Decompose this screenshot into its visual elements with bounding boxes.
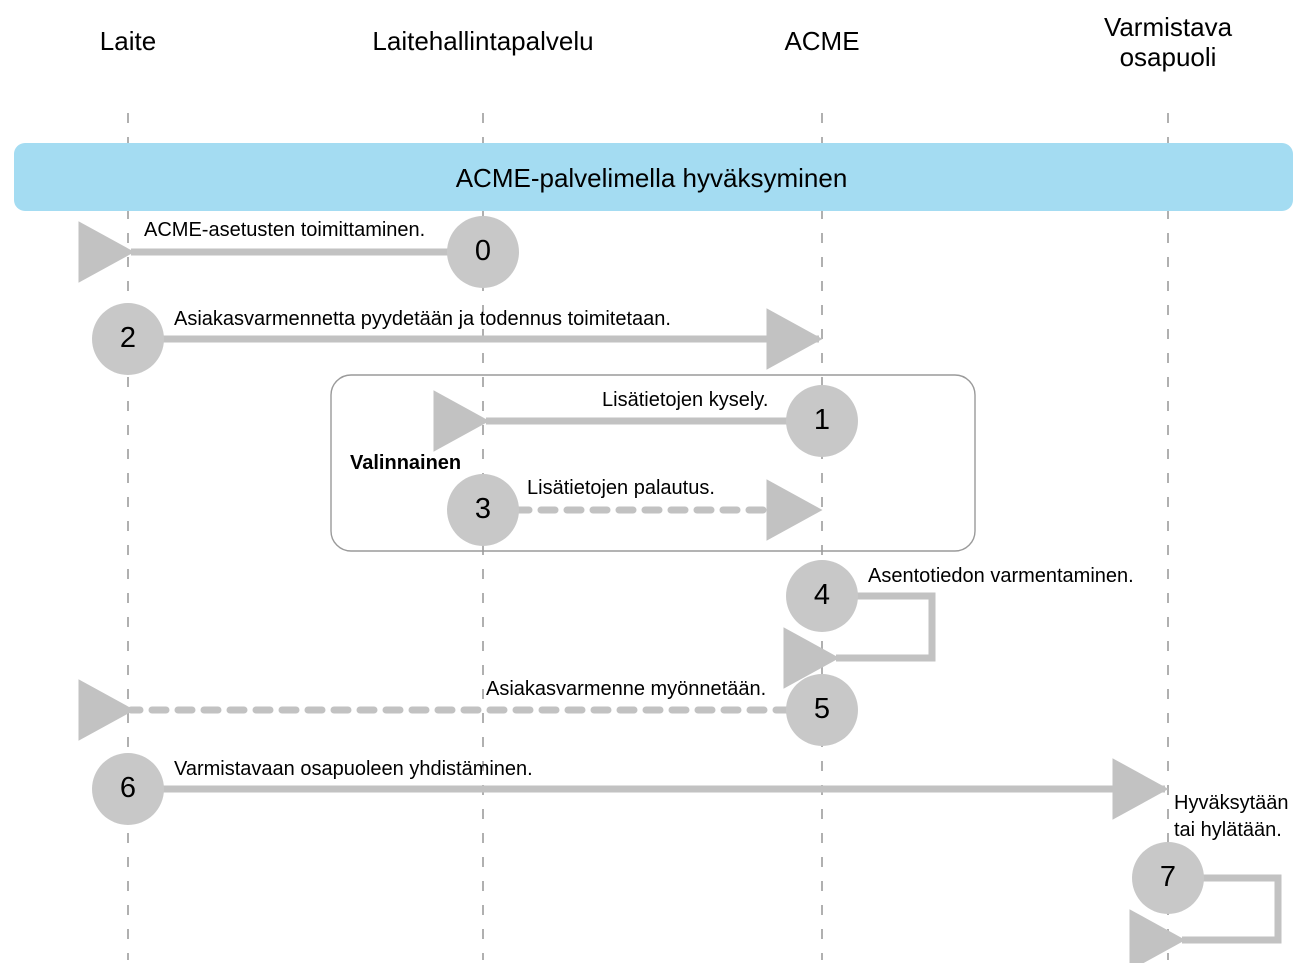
actor-label-text: ACME [784, 26, 859, 56]
actor-label-text: Laitehallintapalvelu [372, 26, 593, 56]
step-number-0: 0 [443, 237, 523, 266]
message-label-6: Varmistavaan osapuoleen yhdistäminen. [174, 758, 533, 782]
actor-header-laitehallintapalvelu: Laitehallintapalvelu [343, 26, 623, 56]
message-label-2: Asiakasvarmennetta pyydetään ja todennus… [174, 308, 671, 332]
actor-header-varmistava-osapuoli: Varmistava osapuoli [1078, 12, 1258, 72]
actor-label-text: Laite [100, 26, 156, 56]
message-label-3: Lisätietojen palautus. [527, 477, 715, 501]
actor-header-laite: Laite [48, 26, 208, 56]
message-label-1: Lisätietojen kysely. [602, 389, 768, 413]
actor-header-acme: ACME [742, 26, 902, 56]
arrows-group [131, 252, 1278, 940]
step-number-7: 7 [1128, 863, 1208, 892]
frame-label-valinnainen: Valinnainen [350, 452, 461, 476]
step-number-2: 2 [88, 324, 168, 353]
step-number-6: 6 [88, 774, 168, 803]
message-label-0: ACME-asetusten toimittaminen. [144, 219, 425, 243]
phase-banner-label: ACME-palvelimella hyväksyminen [0, 163, 1303, 194]
sequence-diagram: Laite Laitehallintapalvelu ACME Varmista… [0, 0, 1303, 963]
step-number-3: 3 [443, 495, 523, 524]
message-label-4: Asentotiedon varmentaminen. [868, 565, 1134, 589]
step-number-1: 1 [782, 406, 862, 435]
actor-label-text: Varmistava osapuoli [1104, 12, 1232, 72]
note-line-2: tai hylätään. [1174, 817, 1299, 844]
message-label-5: Asiakasvarmenne myönnetään. [486, 678, 766, 702]
step-number-5: 5 [782, 695, 862, 724]
step-number-4: 4 [782, 581, 862, 610]
note-line-1: Hyväksytään [1174, 790, 1299, 817]
note-hyvaksytaan: Hyväksytään tai hylätään. [1174, 790, 1299, 844]
